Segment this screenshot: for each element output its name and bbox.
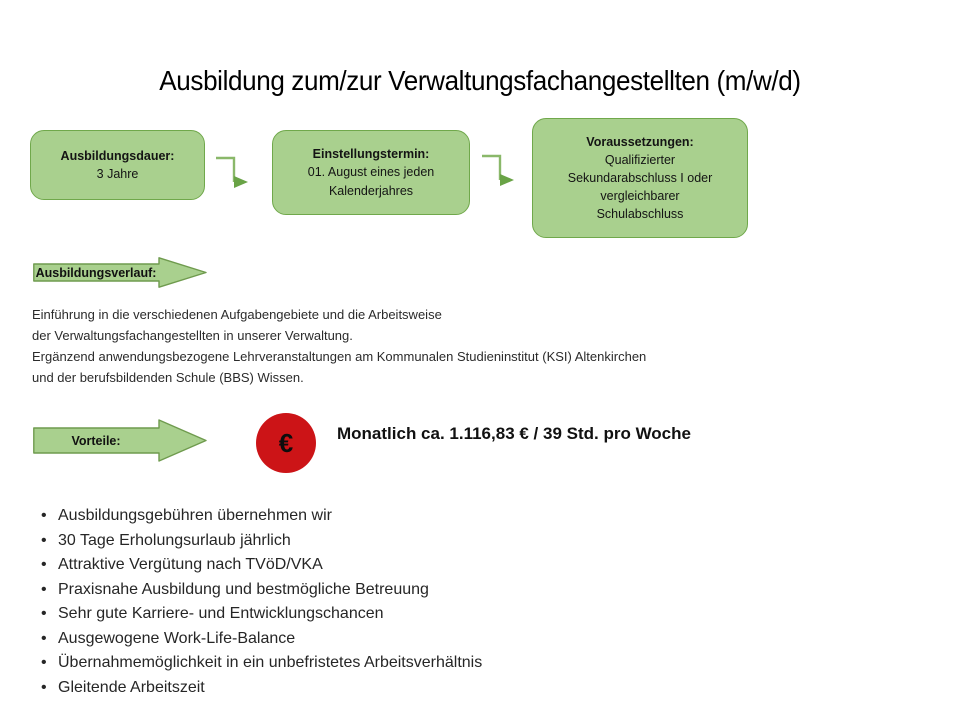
bullet-icon: •	[41, 578, 47, 603]
list-item-label: 30 Tage Erholungsurlaub jährlich	[58, 532, 291, 549]
step-box-heading: Einstellungstermin:	[313, 145, 430, 163]
banner-vorteile: Vorteile:	[33, 419, 207, 462]
course-description-line: der Verwaltungsfachangestellten in unser…	[32, 325, 792, 346]
step-box-voraussetzungen: Voraussetzungen: Qualifizierter Sekundar…	[532, 118, 748, 238]
connector-step-1-to-2	[214, 152, 262, 196]
list-item-label: Praxisnahe Ausbildung und bestmögliche B…	[58, 581, 429, 598]
bullet-icon: •	[41, 627, 47, 652]
list-item: •Praxisnahe Ausbildung und bestmögliche …	[40, 578, 740, 603]
banner-ausbildungsverlauf: Ausbildungsverlauf:	[33, 257, 207, 288]
elbow-arrow-right-icon	[214, 152, 262, 196]
list-item: •Attraktive Vergütung nach TVöD/VKA	[40, 553, 740, 578]
course-description: Einführung in die verschiedenen Aufgaben…	[32, 304, 792, 388]
list-item-label: Ausgewogene Work-Life-Balance	[58, 630, 295, 647]
list-item: •30 Tage Erholungsurlaub jährlich	[40, 529, 740, 554]
step-box-heading: Voraussetzungen:	[586, 133, 693, 151]
salary-text: Monatlich ca. 1.116,83 € / 39 Std. pro W…	[337, 424, 691, 444]
benefits-list: •Ausbildungsgebühren übernehmen wir •30 …	[40, 504, 740, 700]
list-item-label: Gleitende Arbeitszeit	[58, 679, 205, 696]
course-description-line: Einführung in die verschiedenen Aufgaben…	[32, 304, 792, 325]
page-title: Ausbildung zum/zur Verwaltungsfachangest…	[34, 65, 927, 97]
list-item-label: Sehr gute Karriere- und Entwicklungschan…	[58, 605, 384, 622]
step-box-einstellungstermin: Einstellungstermin: 01. August eines jed…	[272, 130, 470, 215]
list-item-label: Ausbildungsgebühren übernehmen wir	[58, 507, 332, 524]
bullet-icon: •	[41, 504, 47, 529]
bullet-icon: •	[41, 602, 47, 627]
right-arrow-banner-icon	[33, 257, 207, 288]
list-item-label: Attraktive Vergütung nach TVöD/VKA	[58, 556, 323, 573]
euro-glyph: €	[279, 430, 293, 456]
list-item: •Gleitende Arbeitszeit	[40, 676, 740, 701]
course-description-line: Ergänzend anwendungsbezogene Lehrveranst…	[32, 346, 792, 367]
list-item: •Übernahmemöglichkeit in ein unbefristet…	[40, 651, 740, 676]
step-box-line: 3 Jahre	[97, 165, 139, 183]
step-box-line: Sekundarabschluss I oder	[568, 169, 713, 187]
list-item: •Ausgewogene Work-Life-Balance	[40, 627, 740, 652]
list-item-label: Übernahmemöglichkeit in ein unbefristete…	[58, 654, 482, 671]
step-box-line: Kalenderjahres	[329, 182, 413, 200]
list-item: •Ausbildungsgebühren übernehmen wir	[40, 504, 740, 529]
course-description-line: und der berufsbildenden Schule (BBS) Wis…	[32, 367, 792, 388]
bullet-icon: •	[41, 529, 47, 554]
bullet-icon: •	[41, 676, 47, 701]
step-box-ausbildungsdauer: Ausbildungsdauer: 3 Jahre	[30, 130, 205, 200]
step-box-line: Qualifizierter	[605, 151, 675, 169]
euro-coin-icon: €	[256, 413, 316, 473]
bullet-icon: •	[41, 553, 47, 578]
right-arrow-banner-icon	[33, 419, 207, 462]
step-box-line: 01. August eines jeden	[308, 163, 435, 181]
list-item: •Sehr gute Karriere- und Entwicklungscha…	[40, 602, 740, 627]
connector-step-2-to-3	[480, 150, 528, 194]
step-box-line: Schulabschluss	[597, 205, 684, 223]
step-box-heading: Ausbildungsdauer:	[61, 147, 175, 165]
elbow-arrow-right-icon	[480, 150, 528, 194]
bullet-icon: •	[41, 651, 47, 676]
step-box-line: vergleichbarer	[600, 187, 679, 205]
